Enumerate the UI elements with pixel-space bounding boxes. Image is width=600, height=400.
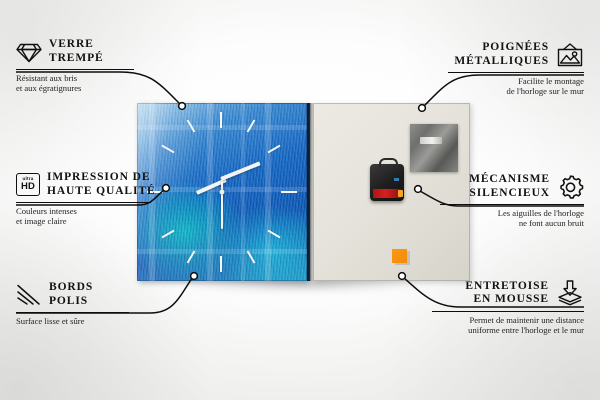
picture-frame-hanger-icon — [556, 42, 584, 68]
callout-subtitle: Les aiguilles de l'horloge ne font aucun… — [424, 205, 584, 229]
callout-verre-trempe: VERRE TREMPÉ Résistant aux bris et aux é… — [16, 38, 151, 94]
callout-impression-haute-qualite: ultra HD IMPRESSION DE HAUTE QUALITÉ Cou… — [16, 171, 166, 227]
callout-title: IMPRESSION DE HAUTE QUALITÉ — [47, 171, 156, 198]
callout-header: ultra HD IMPRESSION DE HAUTE QUALITÉ — [16, 171, 166, 198]
callout-subtitle: Surface lisse et sûre — [16, 313, 146, 326]
callout-header: MÉCANISME SILENCIEUX — [424, 173, 584, 200]
callout-title: MÉCANISME SILENCIEUX — [469, 173, 550, 200]
gear-icon — [557, 174, 584, 200]
leader-dot-bords-polis — [191, 273, 198, 280]
callout-subtitle: Couleurs intenses et image claire — [16, 203, 166, 227]
callout-header: VERRE TREMPÉ — [16, 38, 151, 65]
callout-title: ENTRETOISE EN MOUSSE — [465, 280, 549, 307]
leader-dot-poignees — [419, 105, 426, 112]
callout-subtitle: Facilite le montage de l'horloge sur le … — [432, 73, 584, 97]
callout-subtitle: Permet de maintenir une distance uniform… — [414, 312, 584, 336]
diagonal-lines-icon — [16, 283, 42, 307]
ultra-hd-icon: ultra HD — [16, 173, 40, 196]
callout-header: BORDS POLIS — [16, 281, 146, 308]
callout-bords-polis: BORDS POLIS Surface lisse et sûre — [16, 281, 146, 326]
callout-title: VERRE TREMPÉ — [49, 38, 104, 65]
infographic-canvas: VERRE TREMPÉ Résistant aux bris et aux é… — [0, 0, 600, 400]
diamond-icon — [16, 40, 42, 64]
callout-mecanisme-silencieux: MÉCANISME SILENCIEUX Les aiguilles de l'… — [424, 173, 584, 229]
callout-subtitle: Résistant aux bris et aux égratignures — [16, 70, 151, 94]
callout-poignees-metalliques: POIGNÉES MÉTALLIQUES Facilite le montage… — [432, 41, 584, 97]
callout-header: POIGNÉES MÉTALLIQUES — [432, 41, 584, 68]
leader-dot-verre-trempe — [179, 103, 186, 110]
callout-header: ENTRETOISE EN MOUSSE — [414, 279, 584, 307]
foam-spacer-arrow-icon — [556, 279, 584, 307]
leader-dot-entretoise — [399, 273, 406, 280]
leader-dot-mecanisme — [415, 186, 422, 193]
callout-title: BORDS POLIS — [49, 281, 93, 308]
callout-title: POIGNÉES MÉTALLIQUES — [454, 41, 549, 68]
callout-entretoise-en-mousse: ENTRETOISE EN MOUSSE Permet de maintenir… — [414, 279, 584, 336]
